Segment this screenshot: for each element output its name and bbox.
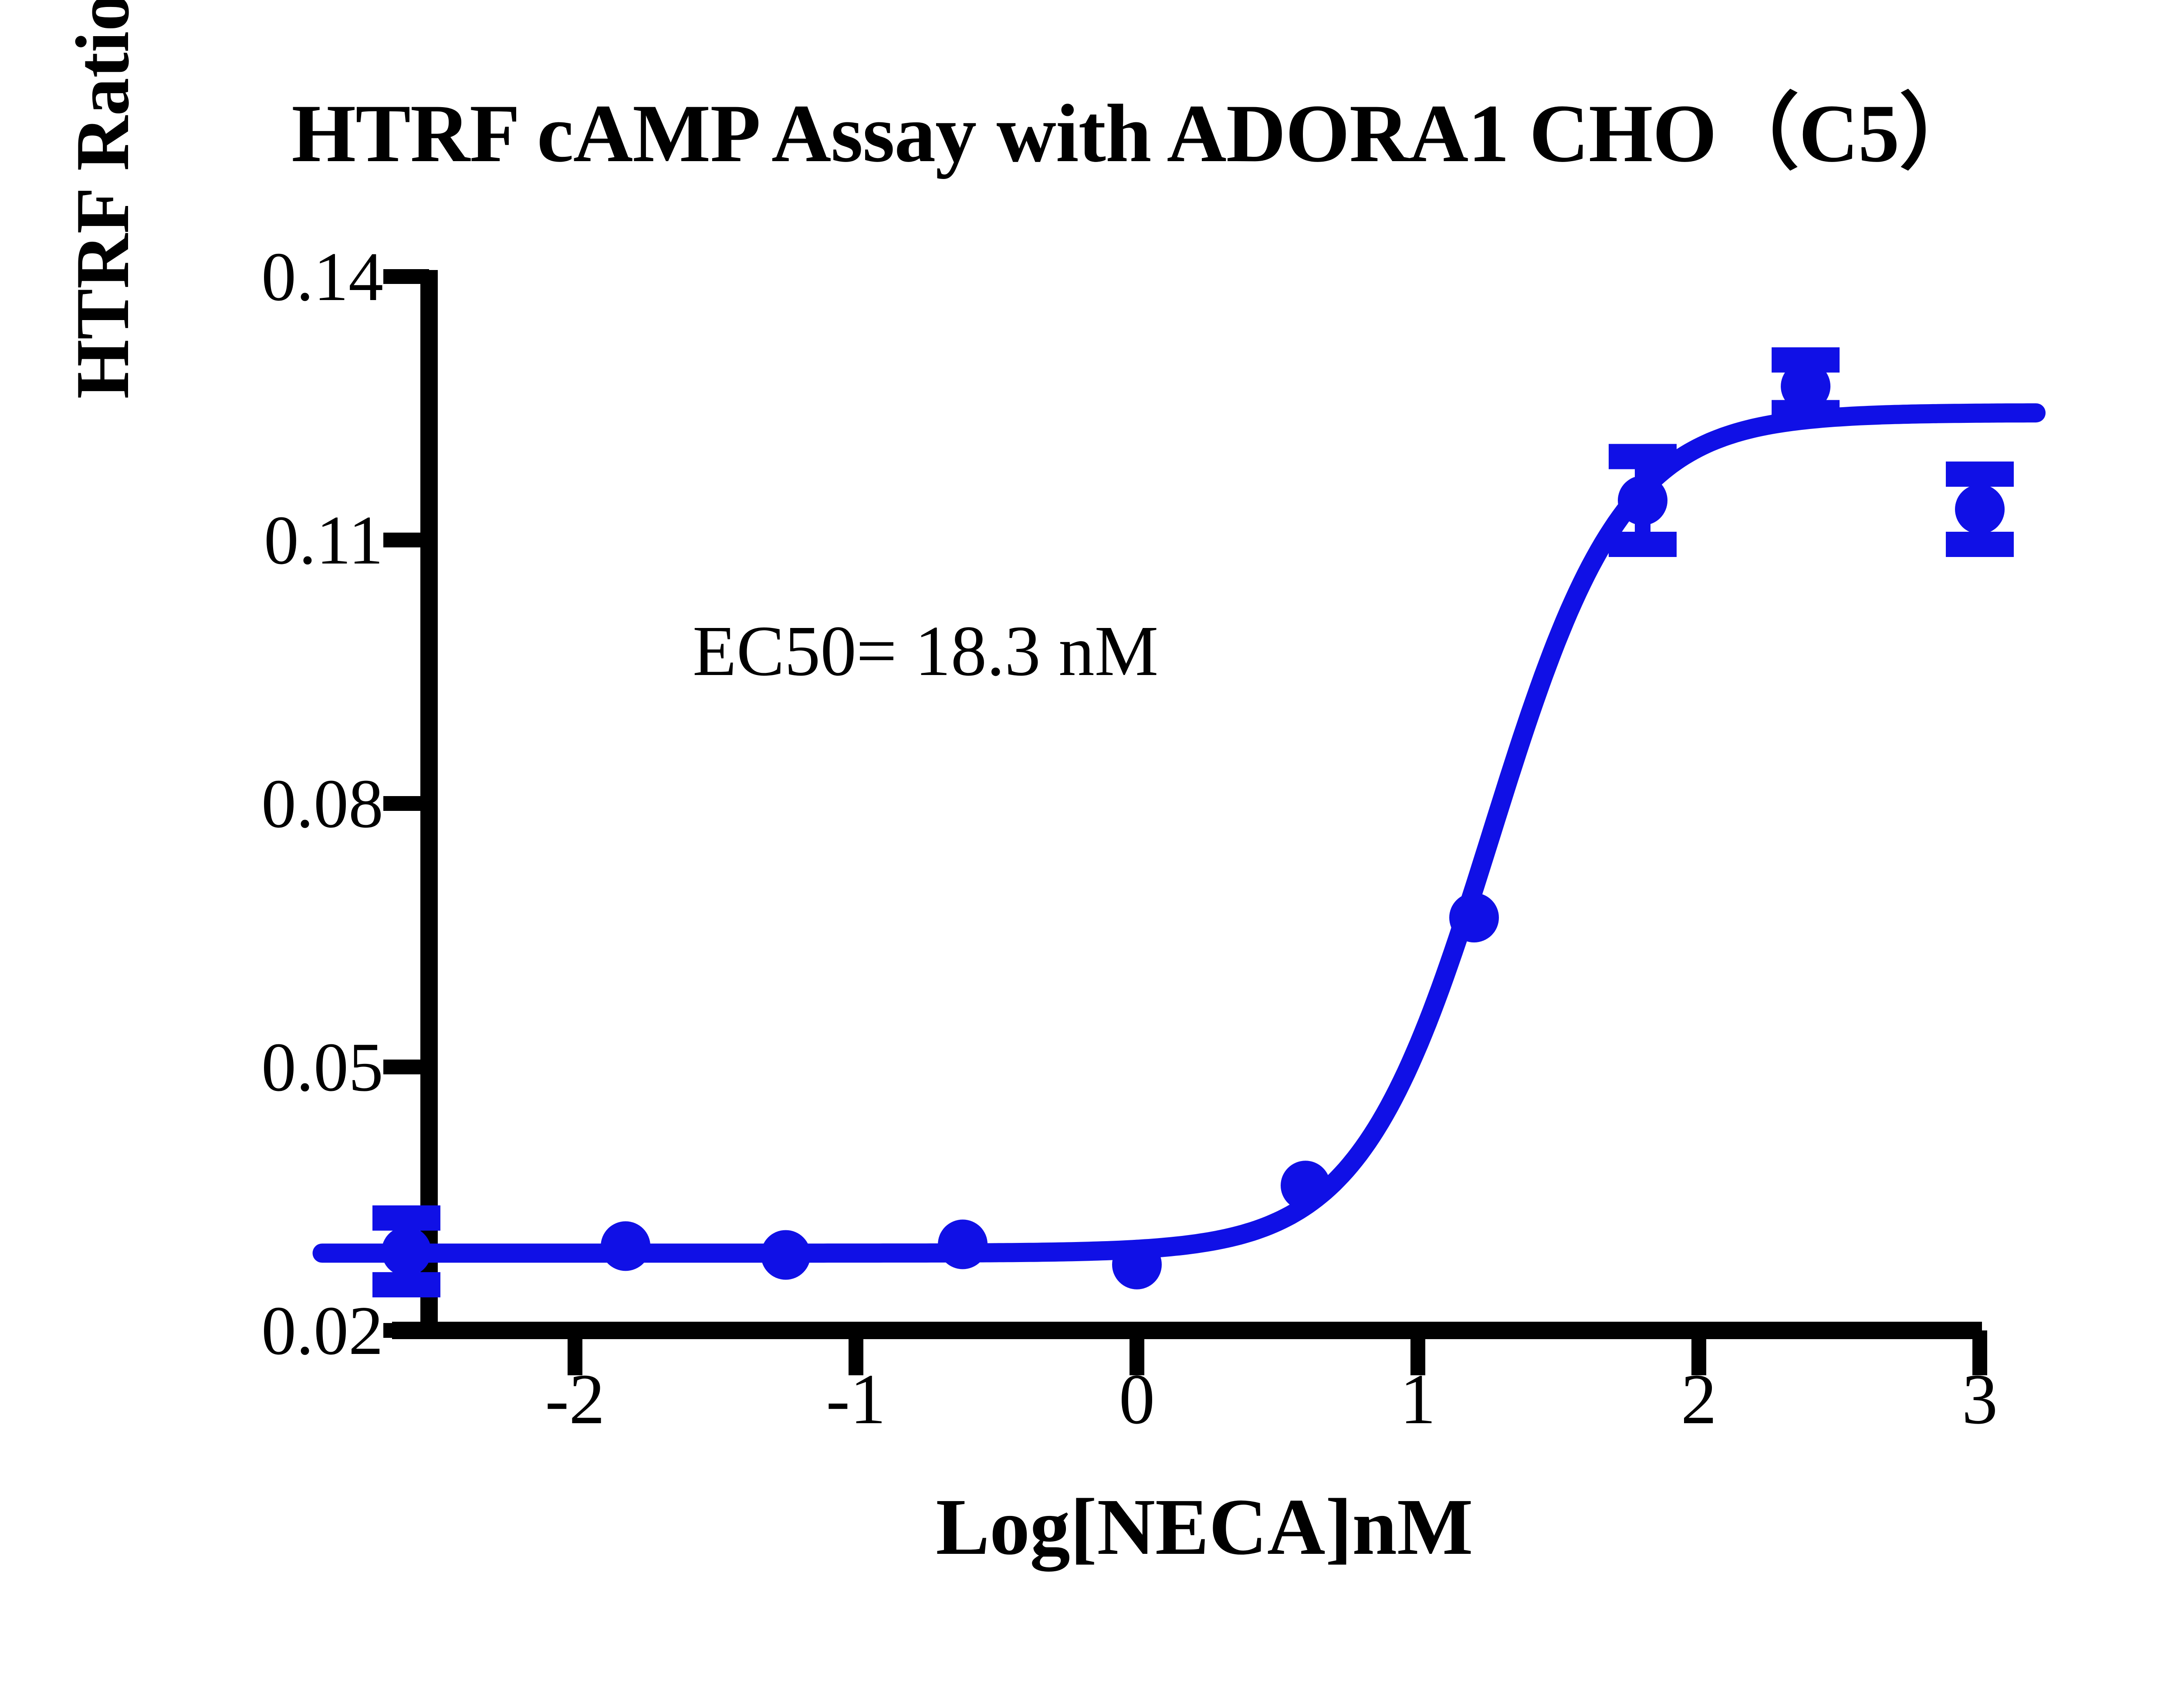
- data-point: [1112, 1240, 1162, 1289]
- data-point: [1955, 484, 2005, 534]
- error-bars: [372, 360, 2014, 1285]
- fit-curve: [322, 413, 2036, 1253]
- data-point: [601, 1221, 650, 1271]
- data-point: [1281, 1161, 1330, 1210]
- data-point: [1781, 361, 1830, 411]
- data-point: [382, 1226, 431, 1276]
- data-point: [1449, 893, 1499, 942]
- data-point: [1618, 476, 1667, 525]
- data-point: [761, 1230, 811, 1280]
- plot-area: [0, 0, 2178, 1708]
- data-point: [938, 1219, 988, 1269]
- chart-figure: HTRF cAMP Assay with ADORA1 CHO（C5） HTRF…: [0, 0, 2178, 1708]
- data-point-markers: [382, 361, 2005, 1289]
